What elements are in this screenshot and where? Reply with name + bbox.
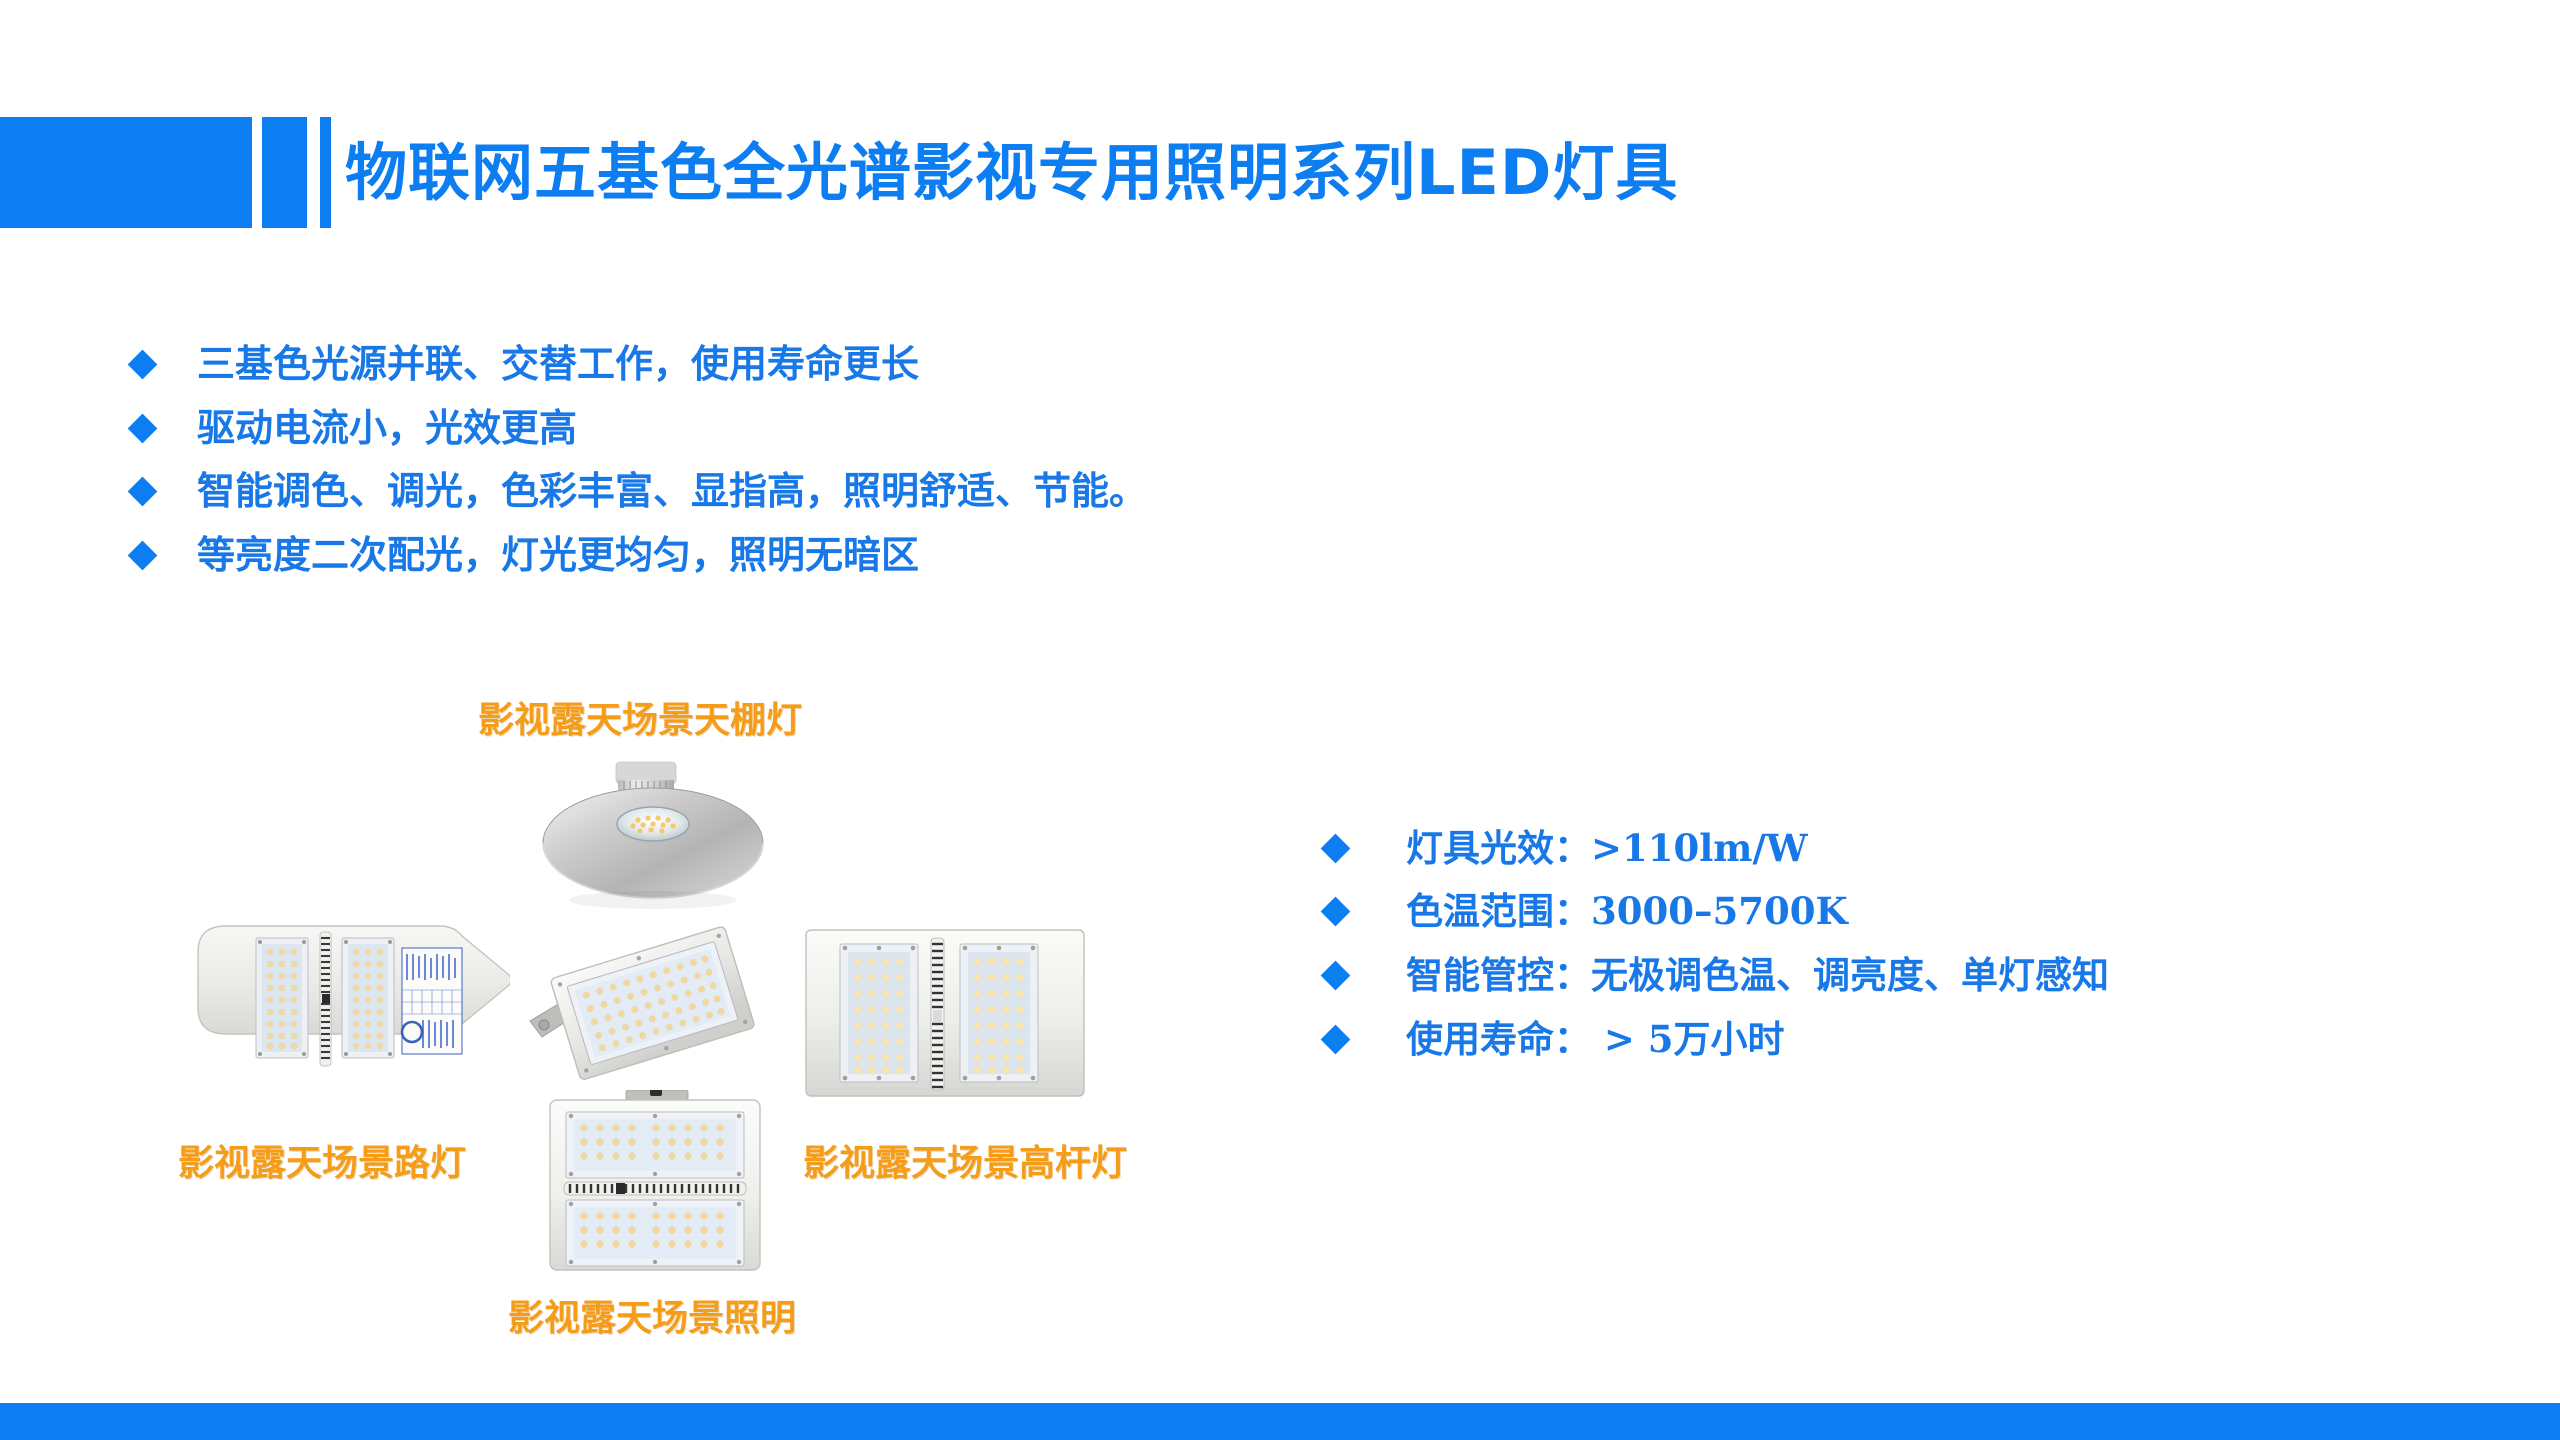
caption-street-light: 影视露天场景路灯 [178, 1145, 466, 1181]
caption-high-bay-light: 影视露天场景天棚灯 [478, 702, 802, 738]
street-light-image [190, 910, 510, 1110]
high-pole-light-image [800, 920, 1090, 1110]
caption-flood-lighting: 影视露天场景照明 [508, 1300, 796, 1336]
footer-bar [0, 1403, 2560, 1440]
caption-high-pole-light: 影视露天场景高杆灯 [803, 1145, 1127, 1181]
high-bay-light-image [520, 740, 800, 920]
flood-light-tilted-image [520, 925, 775, 1105]
square-flood-light-image [540, 1090, 770, 1280]
slide-root: 物联网五基色全光谱影视专用照明系列LED灯具 三基色光源并联、交替工作，使用寿命… [0, 0, 2560, 1440]
product-gallery: 影视露天场景天棚灯 影视露天场景路灯 影视露天场景高杆灯 影视露天场景照明 [0, 0, 2560, 1440]
